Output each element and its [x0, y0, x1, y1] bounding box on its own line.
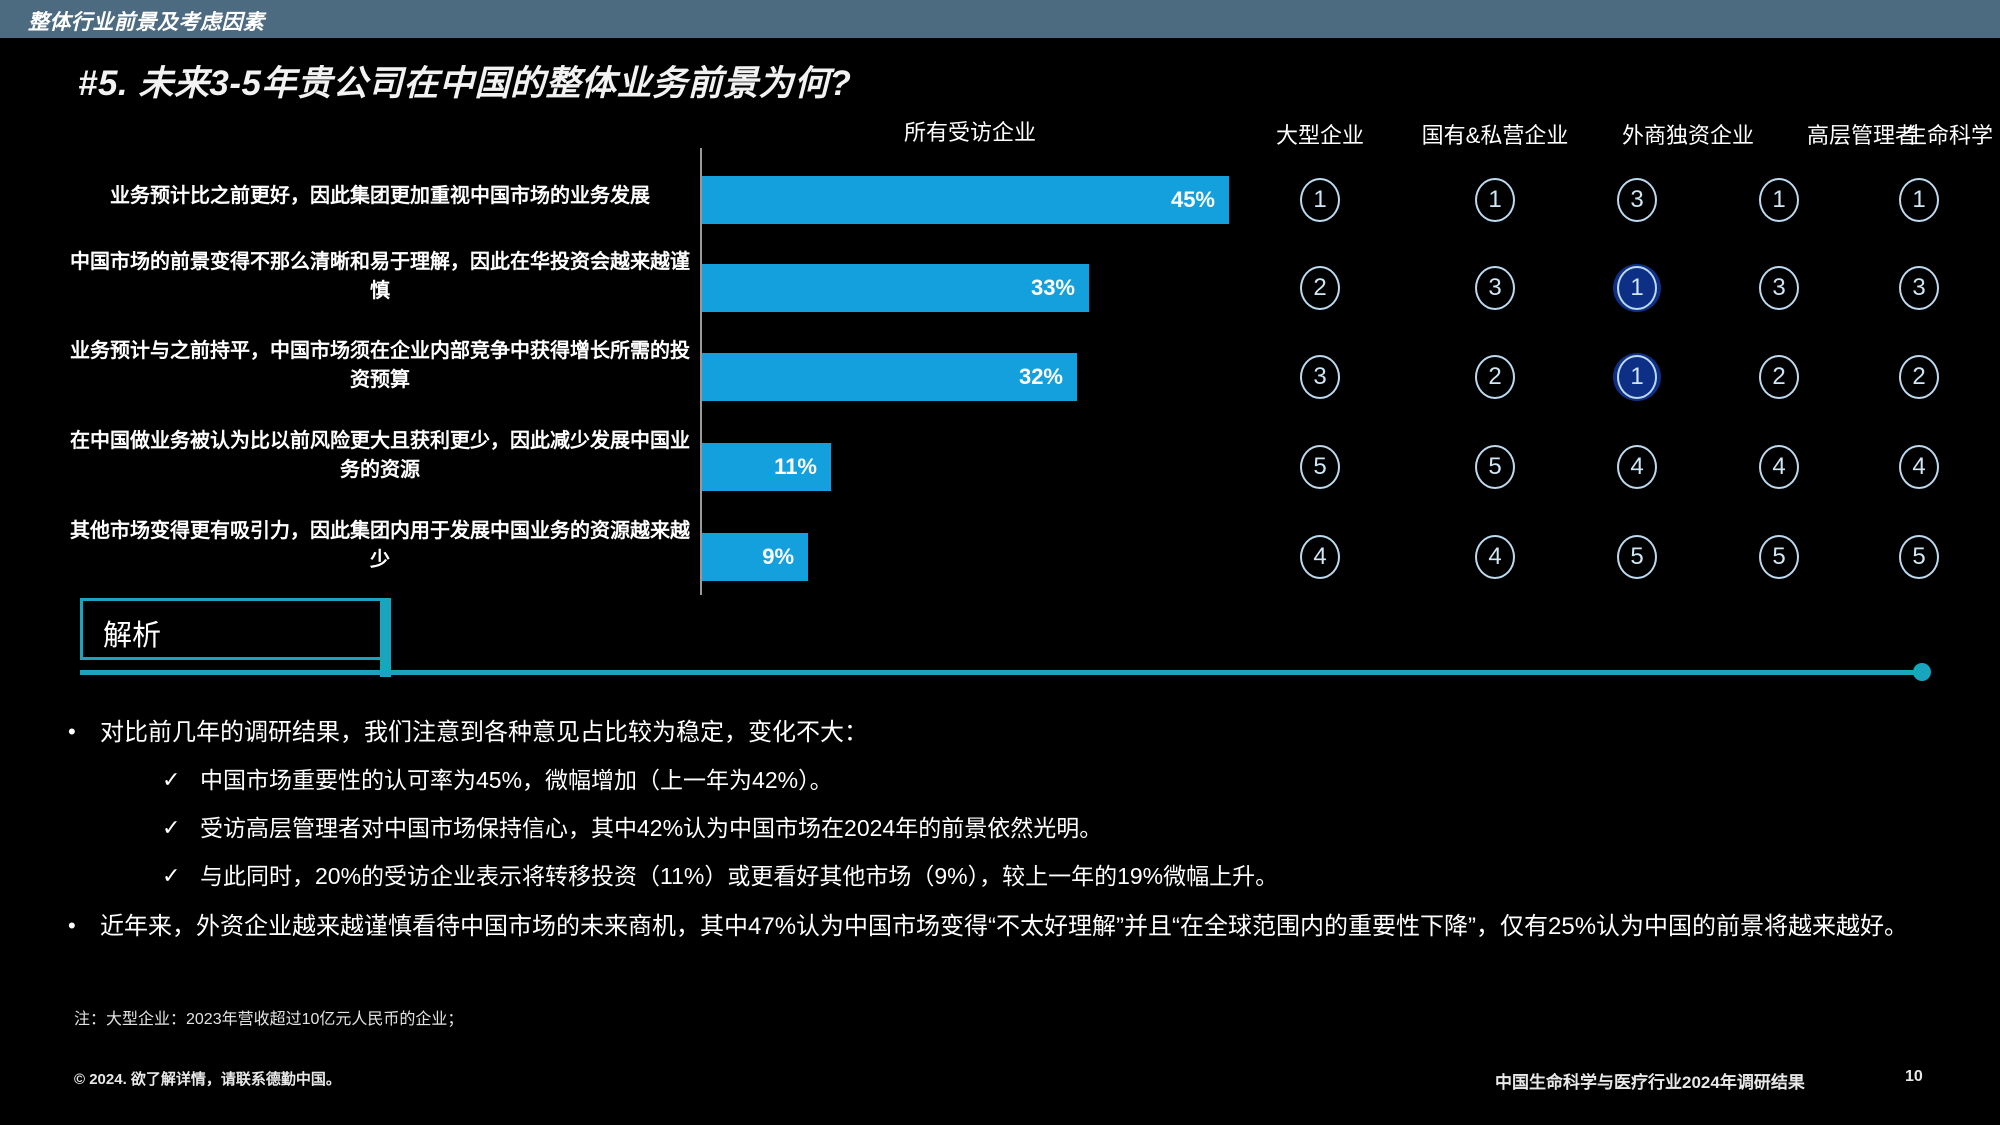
rank-cell: 3: [1895, 264, 1943, 312]
check-icon: ✓: [162, 764, 180, 796]
rank-value: 4: [1300, 535, 1340, 579]
row-label: 业务预计与之前持平，中国市场须在企业内部竞争中获得增长所需的投资预算: [70, 337, 690, 395]
bar-value: 32%: [1019, 364, 1077, 390]
rank-value: 1: [1475, 178, 1515, 222]
bullet-text: 近年来，外资企业越来越谨慎看待中国市场的未来商机，其中47%认为中国市场变得“不…: [100, 913, 1908, 940]
rank-value: 5: [1300, 445, 1340, 489]
footnote: 注：大型企业：2023年营收超过10亿元人民币的企业；: [74, 1005, 463, 1029]
rank-cell: 4: [1296, 533, 1344, 581]
rank-cell: 2: [1895, 353, 1943, 401]
rank-value: 3: [1759, 266, 1799, 310]
banner-title: 整体行业前景及考虑因素: [28, 6, 265, 36]
rank-cell: 5: [1755, 533, 1803, 581]
bullet-item: • 近年来，外资企业越来越谨慎看待中国市场的未来商机，其中47%认为中国市场变得…: [100, 910, 1930, 945]
bullet-text: 对比前几年的调研结果，我们注意到各种意见占比较为稳定，变化不大：: [100, 719, 868, 746]
row-label: 中国市场的前景变得不那么清晰和易于理解，因此在华投资会越来越谨慎: [70, 248, 690, 306]
bar-value: 9%: [762, 544, 808, 570]
rank-cell: 3: [1613, 176, 1661, 224]
bullet-text: 与此同时，20%的受访企业表示将转移投资（11%）或更看好其他市场（9%），较上…: [200, 863, 1278, 889]
bar-value: 33%: [1031, 275, 1089, 301]
rank-cell-highlighted: 1: [1613, 353, 1661, 401]
col-header-life-science: 生命科学: [1905, 118, 2000, 150]
rank-value: 1: [1617, 266, 1657, 310]
col-header-large-enterprise: 大型企业: [1250, 118, 1390, 150]
rank-value: 5: [1759, 535, 1799, 579]
rank-cell: 5: [1895, 533, 1943, 581]
col-header-wfoe: 外商独资企业: [1598, 118, 1778, 150]
row-label: 在中国做业务被认为比以前风险更大且获利更少，因此减少发展中国业务的资源: [70, 427, 690, 485]
bar-value: 45%: [1171, 187, 1229, 213]
analysis-callout-edge: [380, 598, 391, 677]
rank-value: 1: [1759, 178, 1799, 222]
rank-cell: 4: [1755, 443, 1803, 491]
row-label: 业务预计比之前更好，因此集团更加重视中国市场的业务发展: [70, 182, 690, 211]
bar: 33%: [702, 264, 1089, 312]
bullet-item: • 对比前几年的调研结果，我们注意到各种意见占比较为稳定，变化不大：: [100, 716, 1920, 751]
bullet-item: ✓ 中国市场重要性的认可率为45%，微幅增加（上一年为42%）。: [200, 764, 1920, 797]
rank-value: 3: [1300, 355, 1340, 399]
section-banner: 整体行业前景及考虑因素: [0, 0, 2000, 38]
bar-value: 11%: [774, 454, 831, 480]
rank-value: 4: [1617, 445, 1657, 489]
analysis-divider: [80, 670, 1923, 675]
check-icon: ✓: [162, 812, 180, 844]
rank-value: 4: [1475, 535, 1515, 579]
rank-cell: 5: [1296, 443, 1344, 491]
rank-cell: 3: [1471, 264, 1519, 312]
rank-cell: 2: [1471, 353, 1519, 401]
rank-value: 5: [1899, 535, 1939, 579]
page-title: #5. 未来3-5年贵公司在中国的整体业务前景为何?: [78, 55, 851, 106]
rank-cell: 3: [1755, 264, 1803, 312]
bar: 9%: [702, 533, 808, 581]
row-label: 其他市场变得更有吸引力，因此集团内用于发展中国业务的资源越来越少: [70, 517, 690, 575]
bullet-text: 中国市场重要性的认可率为45%，微幅增加（上一年为42%）。: [200, 767, 833, 793]
rank-cell: 4: [1895, 443, 1943, 491]
bar: 11%: [702, 443, 831, 491]
rank-value: 2: [1899, 355, 1939, 399]
rank-cell: 3: [1296, 353, 1344, 401]
analysis-label: 解析: [103, 612, 161, 654]
bullet-item: ✓ 受访高层管理者对中国市场保持信心，其中42%认为中国市场在2024年的前景依…: [200, 812, 1920, 845]
col-header-soe-private: 国有&私营企业: [1395, 118, 1595, 150]
rank-cell: 2: [1296, 264, 1344, 312]
rank-cell: 4: [1613, 443, 1661, 491]
bullet-item: ✓ 与此同时，20%的受访企业表示将转移投资（11%）或更看好其他市场（9%），…: [200, 860, 1940, 893]
rank-value: 3: [1475, 266, 1515, 310]
rank-value: 3: [1617, 178, 1657, 222]
bullet-marker-icon: •: [68, 716, 76, 748]
rank-cell: 4: [1471, 533, 1519, 581]
rank-cell: 5: [1613, 533, 1661, 581]
bullet-text: 受访高层管理者对中国市场保持信心，其中42%认为中国市场在2024年的前景依然光…: [200, 815, 1102, 841]
rank-cell-highlighted: 1: [1613, 264, 1661, 312]
rank-cell: 1: [1895, 176, 1943, 224]
page-number: 10: [1905, 1068, 1923, 1086]
rank-value: 1: [1617, 355, 1657, 399]
check-icon: ✓: [162, 860, 180, 892]
slide-root: 整体行业前景及考虑因素 #5. 未来3-5年贵公司在中国的整体业务前景为何? 所…: [0, 0, 2000, 1125]
rank-value: 2: [1300, 266, 1340, 310]
rank-cell: 5: [1471, 443, 1519, 491]
rank-value: 4: [1759, 445, 1799, 489]
rank-value: 2: [1759, 355, 1799, 399]
rank-value: 1: [1300, 178, 1340, 222]
footer-report-title: 中国生命科学与医疗行业2024年调研结果: [1495, 1068, 1805, 1093]
bar: 45%: [702, 176, 1229, 224]
bar: 32%: [702, 353, 1077, 401]
rank-cell: 1: [1471, 176, 1519, 224]
rank-value: 5: [1475, 445, 1515, 489]
rank-cell: 2: [1755, 353, 1803, 401]
analysis-end-dot-icon: [1913, 663, 1931, 681]
rank-cell: 1: [1296, 176, 1344, 224]
rank-value: 2: [1475, 355, 1515, 399]
footer-copyright: © 2024. 欲了解详情，请联系德勤中国。: [74, 1068, 341, 1089]
chart-title: 所有受访企业: [700, 115, 1240, 147]
rank-value: 1: [1899, 178, 1939, 222]
rank-value: 5: [1617, 535, 1657, 579]
rank-cell: 1: [1755, 176, 1803, 224]
rank-value: 4: [1899, 445, 1939, 489]
bullet-marker-icon: •: [68, 910, 76, 942]
rank-value: 3: [1899, 266, 1939, 310]
